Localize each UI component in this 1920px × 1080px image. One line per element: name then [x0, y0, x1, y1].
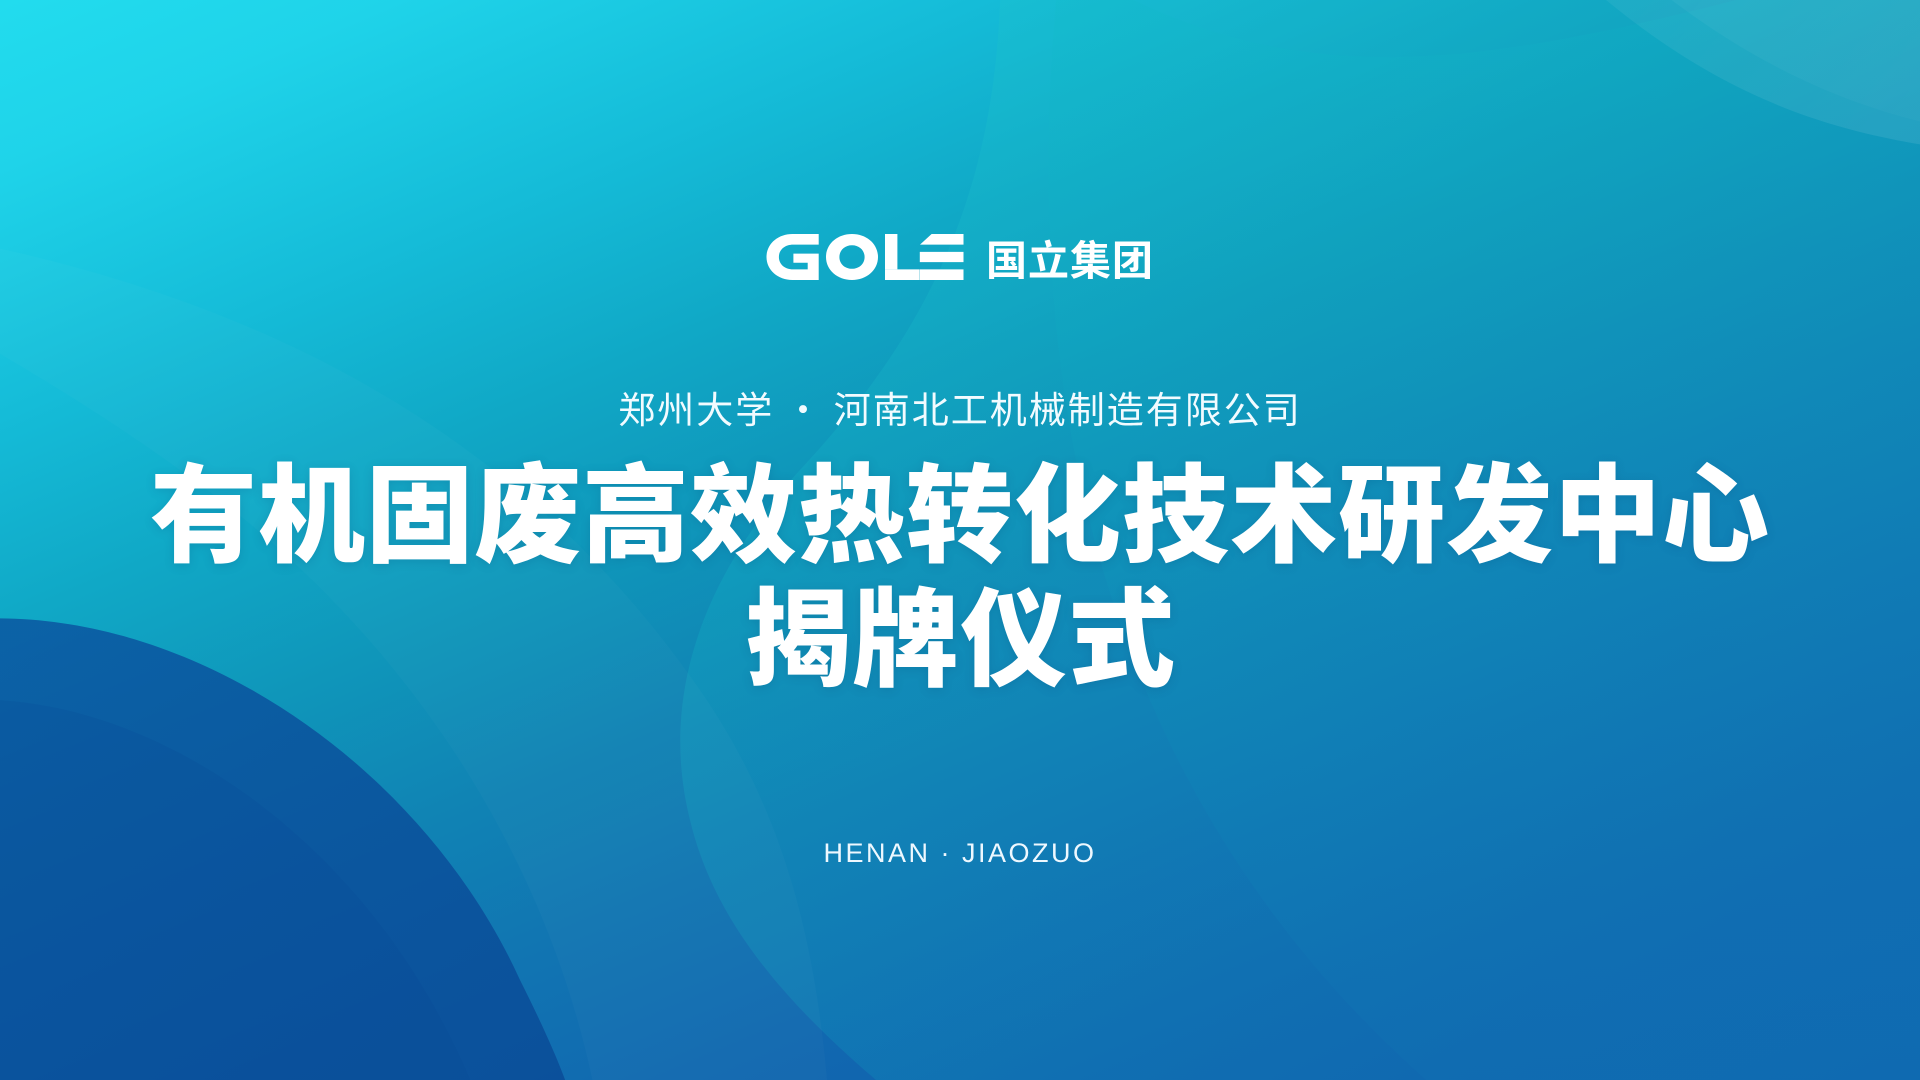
title-line-2: 揭牌仪式 — [0, 569, 1920, 693]
logo-chinese-name: 国立集团 — [986, 237, 1154, 278]
footer-location: HENAN · JIAOZUO — [0, 838, 1920, 869]
title-slide: 国立集团 郑州大学 · 河南北工机械制造有限公司 有机固废高效热转化技术研发中心… — [0, 0, 1920, 1080]
gole-logo-icon — [766, 234, 964, 280]
subtitle-organizations: 郑州大学 · 河南北工机械制造有限公司 — [0, 380, 1920, 434]
title-line-1: 有机固废高效热转化技术研发中心 — [0, 445, 1920, 569]
main-title: 有机固废高效热转化技术研发中心 揭牌仪式 — [0, 445, 1920, 693]
brand-logo: 国立集团 — [766, 232, 1154, 282]
slide-content: 国立集团 郑州大学 · 河南北工机械制造有限公司 有机固废高效热转化技术研发中心… — [0, 0, 1920, 1080]
